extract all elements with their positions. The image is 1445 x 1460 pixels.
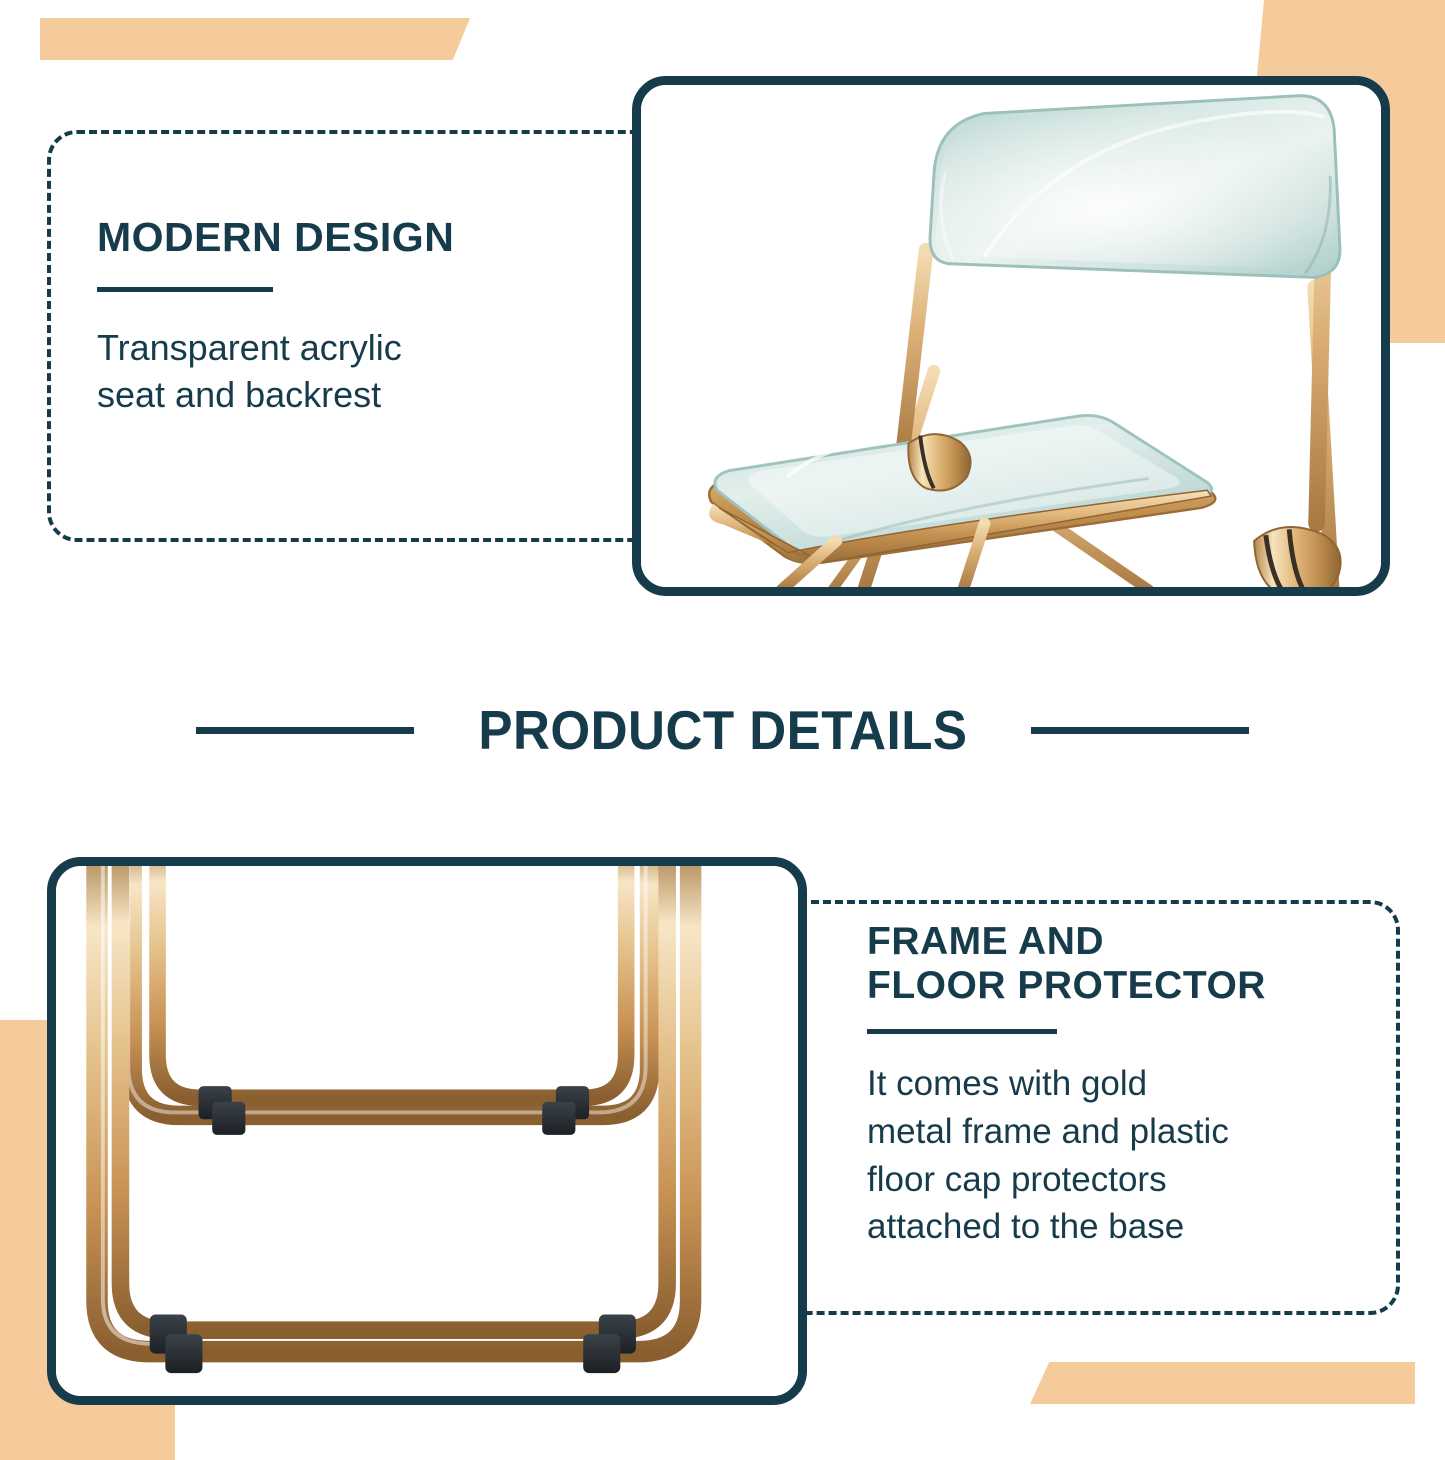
chair-frame-legs-photo [56, 866, 798, 1396]
section-rule-left [196, 727, 414, 734]
section-heading: PRODUCT DETAILS [0, 676, 1445, 784]
chair-hinge-left [908, 434, 970, 490]
modern-design-accent-rule [97, 287, 273, 292]
acrylic-folding-chair-photo [641, 85, 1381, 587]
section-rule-right [1031, 727, 1249, 734]
section-title: PRODUCT DETAILS [478, 698, 967, 762]
peach-accent-top-left [40, 18, 470, 60]
frame-protector-title: FRAME ANDFLOOR PROTECTOR [867, 920, 1367, 1007]
frame-protector-accent-rule [867, 1029, 1057, 1034]
frame-photo-card [47, 857, 807, 1405]
modern-design-title: MODERN DESIGN [97, 215, 617, 261]
peach-accent-bottom-right [1030, 1362, 1415, 1404]
modern-design-text-block: MODERN DESIGN Transparent acrylicseat an… [97, 215, 617, 419]
modern-design-body: Transparent acrylicseat and backrest [97, 324, 617, 419]
frame-protector-text-block: FRAME ANDFLOOR PROTECTOR It comes with g… [867, 920, 1367, 1251]
frame-protector-body: It comes with goldmetal frame and plasti… [867, 1060, 1367, 1250]
chair-photo-card [632, 76, 1390, 596]
infographic-canvas: MODERN DESIGN Transparent acrylicseat an… [0, 0, 1445, 1445]
chair-backrest [930, 96, 1340, 278]
